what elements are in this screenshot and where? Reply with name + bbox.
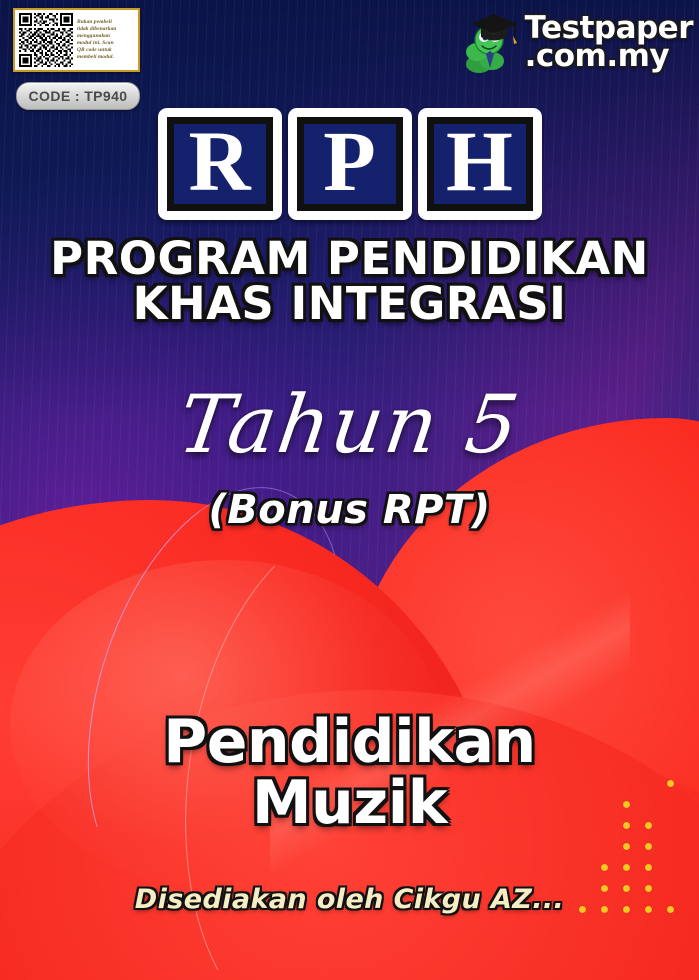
rph-logo-group: R P H xyxy=(0,108,699,220)
decorative-dot xyxy=(623,801,630,808)
qr-notice-card: Bukan pembeli tidak dibenarkan menggunak… xyxy=(13,8,140,72)
brand-wordmark: Testpaper .com.my xyxy=(525,15,693,69)
rph-inner-frame-r: R xyxy=(167,117,273,211)
decorative-dot xyxy=(645,906,652,913)
rph-letter-p: P xyxy=(323,125,376,198)
decorative-dot xyxy=(623,906,630,913)
qr-note-line-1: Bukan pembeli xyxy=(77,19,117,26)
headline-line-2: KHAS INTEGRASI xyxy=(0,283,699,325)
decorative-dot xyxy=(667,780,674,787)
graduation-caterpillar-logo-icon xyxy=(465,4,523,76)
decorative-dot xyxy=(645,822,652,829)
code-badge: CODE : TP940 xyxy=(16,82,140,110)
rph-inner-frame-h: H xyxy=(427,117,533,211)
decorative-dot xyxy=(623,864,630,871)
decorative-dot xyxy=(645,864,652,871)
qr-note-line-4: modul ini. Scan xyxy=(77,40,117,47)
decorative-dot xyxy=(601,864,608,871)
year-script-title: Tahun 5 xyxy=(0,378,699,471)
subject-line-1: Pendidikan xyxy=(0,714,699,771)
rph-letter-r: R xyxy=(188,125,250,198)
rph-inner-frame-p: P xyxy=(297,117,403,211)
qr-note-line-2: tidak dibenarkan xyxy=(77,26,117,33)
decorative-dot xyxy=(667,906,674,913)
dot-pattern-decoration xyxy=(579,780,689,940)
qr-note-line-5: QR code untuk xyxy=(77,47,117,54)
decorative-dot xyxy=(579,906,586,913)
headline-line-1: PROGRAM PENDIDIKAN xyxy=(0,238,699,280)
decorative-dot xyxy=(645,885,652,892)
rph-letter-h: H xyxy=(446,125,513,198)
qr-note-line-3: menggunakan xyxy=(77,33,117,40)
rph-box-h: H xyxy=(418,108,542,220)
decorative-dot xyxy=(623,822,630,829)
rph-cover-page: Bukan pembeli tidak dibenarkan menggunak… xyxy=(0,0,699,980)
brand-logo: Testpaper .com.my xyxy=(465,4,693,76)
program-headline: PROGRAM PENDIDIKAN KHAS INTEGRASI xyxy=(0,238,699,326)
decorative-dot xyxy=(645,843,652,850)
qr-code-icon xyxy=(19,13,73,67)
decorative-dot xyxy=(601,906,608,913)
rph-box-p: P xyxy=(288,108,412,220)
decorative-dot xyxy=(623,843,630,850)
decorative-dot xyxy=(623,885,630,892)
brand-line-2: .com.my xyxy=(525,43,693,70)
bonus-label: (Bonus RPT) xyxy=(0,487,699,533)
rph-box-r: R xyxy=(158,108,282,220)
decorative-dot xyxy=(601,885,608,892)
qr-note-line-6: membeli modul. xyxy=(77,54,117,61)
qr-notice-text: Bukan pembeli tidak dibenarkan menggunak… xyxy=(77,19,117,62)
